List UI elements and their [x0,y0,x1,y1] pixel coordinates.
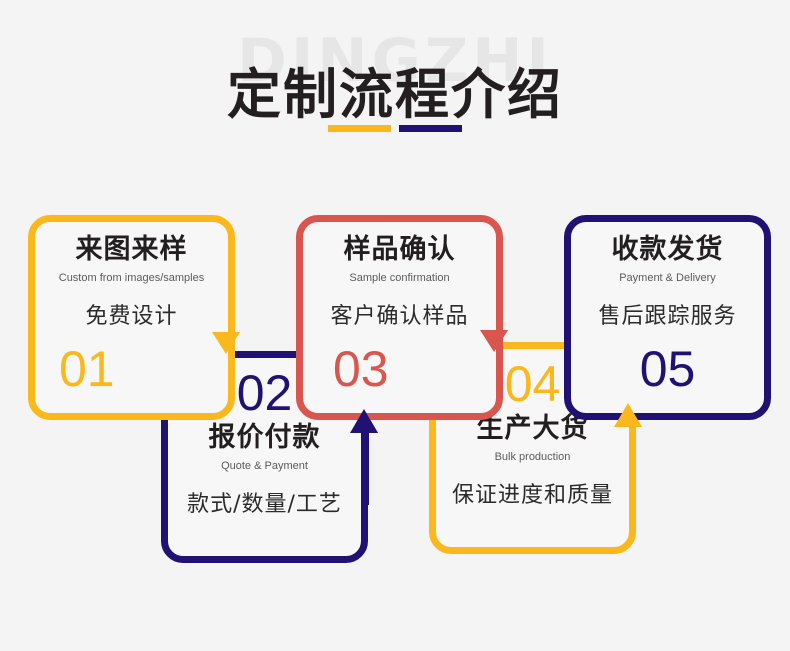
step-card-03-number: 03 [333,344,389,394]
step-card-01-number: 01 [59,344,115,394]
arrowhead-02-to-03-overlay [350,409,378,433]
step-card-04-number: 04 [505,359,561,409]
step-card-02-title: 报价付款 [209,422,321,453]
step-card-03-title: 样品确认 [344,234,456,265]
arrowhead-03-to-04-overlay [480,330,508,352]
underline-navy-segment [399,125,462,132]
step-card-05[interactable]: 收款发货 Payment & Delivery 售后跟踪服务 05 [564,215,771,420]
step-card-05-title: 收款发货 [612,234,724,265]
page-title: 定制流程介绍 [0,50,790,129]
step-card-05-description: 售后跟踪服务 [598,298,736,330]
step-card-03[interactable]: 样品确认 Sample confirmation 客户确认样品 03 [296,215,503,420]
step-card-01-title: 来图来样 [76,234,188,265]
step-card-05-number: 05 [640,344,696,394]
title-underline [0,125,790,132]
step-card-01-subtitle: Custom from images/samples [59,272,205,284]
infographic-root: DINGZHI 定制流程介绍 02 报价付款 Quote & Payment 款… [0,0,790,651]
step-card-02-number: 02 [237,368,293,418]
step-card-02-subtitle: Quote & Payment [221,460,308,472]
underline-yellow-segment [328,125,391,132]
step-card-04-subtitle: Bulk production [495,451,571,463]
step-card-02-description: 款式/数量/工艺 [187,486,342,518]
arrowhead-04-to-05-overlay [614,403,642,427]
step-card-05-subtitle: Payment & Delivery [619,272,716,284]
header: DINGZHI 定制流程介绍 [0,0,790,175]
step-card-04-description: 保证进度和质量 [452,477,613,509]
step-card-03-description: 客户确认样品 [330,298,468,330]
step-card-04-title: 生产大货 [477,413,589,444]
step-card-03-subtitle: Sample confirmation [349,272,449,284]
arrowhead-01-to-02-overlay [212,332,240,354]
step-card-01[interactable]: 来图来样 Custom from images/samples 免费设计 01 [28,215,235,420]
step-card-01-description: 免费设计 [85,298,177,330]
